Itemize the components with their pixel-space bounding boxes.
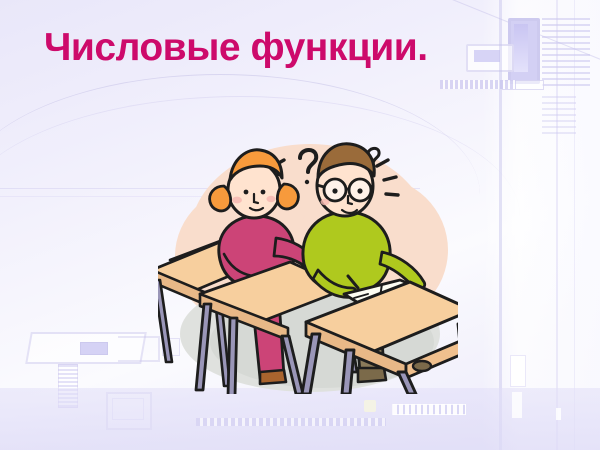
small-screen-glass-icon	[474, 50, 500, 62]
stripes-secondary-icon	[542, 96, 576, 136]
bottom-right-block-2	[512, 392, 522, 418]
vertical-rule-2	[556, 0, 558, 450]
slide-title: Числовые функции.	[44, 28, 428, 69]
vertical-rule-3	[574, 0, 575, 450]
stripes-icon	[542, 18, 590, 88]
keyboard-icon-top	[440, 80, 516, 89]
slide-canvas: Числовые функции.	[0, 0, 600, 450]
bottom-right-tick	[556, 408, 561, 420]
bottom-indicator-icon	[364, 400, 376, 412]
monitor-secondary-screen-icon	[112, 398, 144, 420]
bottom-keyboard-icon	[196, 418, 386, 426]
bottom-wash-band	[0, 388, 600, 450]
monitor-secondary-icon	[106, 392, 152, 430]
bottom-right-block-1	[510, 355, 526, 387]
right-light-band	[482, 0, 600, 450]
small-screen-icon	[466, 44, 514, 72]
diagonal-accent-line	[430, 0, 600, 73]
students-illustration	[158, 128, 458, 394]
bottom-bar-icon	[392, 404, 466, 415]
monitor-base-icon	[502, 80, 544, 90]
keyboard-keys-icon	[80, 342, 108, 355]
monitor-icon	[508, 18, 540, 84]
vertical-rule-1	[499, 0, 502, 450]
monitor-screen-icon	[514, 24, 528, 72]
computer-tower-icon	[58, 364, 78, 408]
keyboard-arm-icon	[118, 336, 160, 362]
keyboard-body-icon	[25, 332, 147, 364]
